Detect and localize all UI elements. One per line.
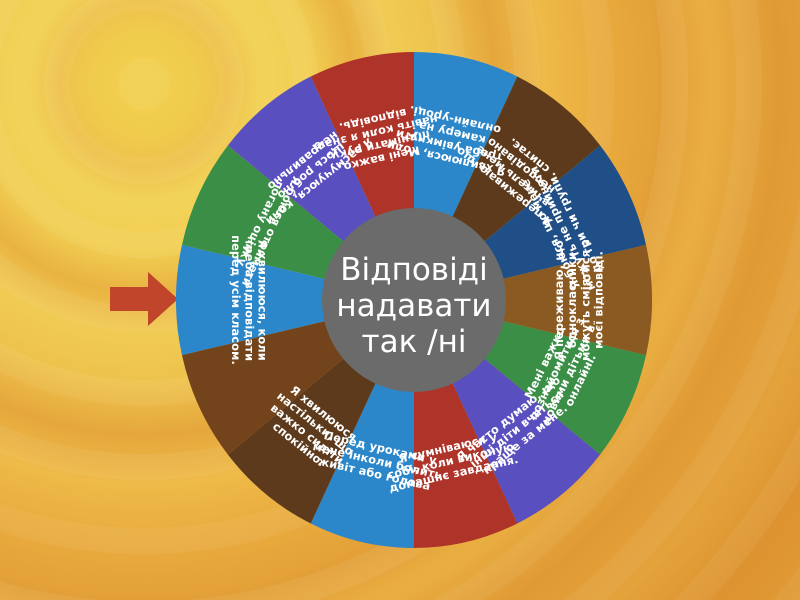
wheel-graphic[interactable]: Я хвилююся, колитреба відповідатиперед у… — [176, 52, 652, 548]
hub-line-3: так /ні — [362, 324, 467, 360]
hub-line-1: Відповіді — [340, 252, 487, 288]
pointer-arrow-icon — [108, 268, 180, 330]
wheel-pointer-arrow — [108, 268, 180, 330]
hub-line-2: надавати — [336, 288, 491, 324]
wheel-activity-stage: Я хвилююся, колитреба відповідатиперед у… — [0, 0, 800, 600]
spin-wheel[interactable]: Я хвилююся, колитреба відповідатиперед у… — [176, 52, 652, 548]
